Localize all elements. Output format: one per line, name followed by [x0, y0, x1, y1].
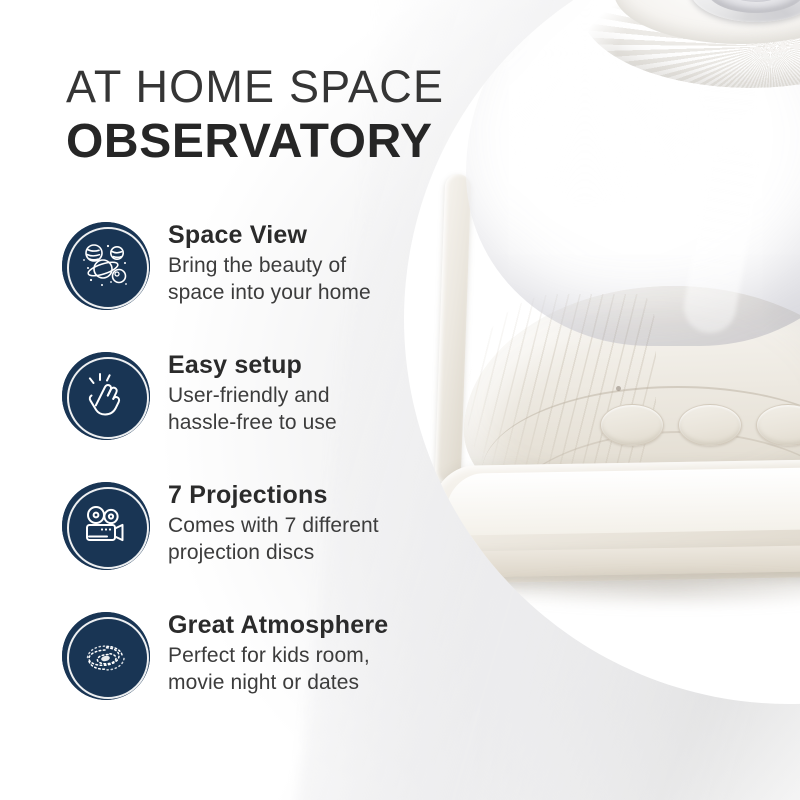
feature-desc-line: hassle-free to use	[168, 409, 337, 436]
feature-description: User-friendly and hassle-free to use	[168, 382, 337, 436]
feature-item-projections: 7 Projections Comes with 7 different pro…	[62, 478, 462, 608]
feature-text: Easy setup User-friendly and hassle-free…	[168, 348, 337, 436]
light-icon	[777, 417, 799, 433]
headline-line-1: AT HOME SPACE	[66, 62, 486, 112]
power-icon	[621, 417, 643, 433]
infographic-canvas: AT HOME SPACE OBSERVATORY	[0, 0, 800, 800]
spiral-galaxy-icon	[62, 612, 150, 700]
page-title: AT HOME SPACE OBSERVATORY	[66, 62, 486, 170]
feature-title: Easy setup	[168, 350, 337, 380]
feature-title: Great Atmosphere	[168, 610, 388, 640]
feature-text: 7 Projections Comes with 7 different pro…	[168, 478, 379, 566]
tap-hand-icon	[62, 352, 150, 440]
indicator-led	[616, 386, 621, 391]
feature-text: Great Atmosphere Perfect for kids room, …	[168, 608, 388, 696]
feature-title: Space View	[168, 220, 371, 250]
feature-desc-line: Comes with 7 different	[168, 512, 379, 539]
stand-base-top	[442, 466, 800, 536]
feature-desc-line: User-friendly and	[168, 382, 337, 409]
mode-icon	[699, 417, 721, 433]
feature-description: Bring the beauty of space into your home	[168, 252, 371, 306]
feature-description: Perfect for kids room, movie night or da…	[168, 642, 388, 696]
feature-desc-line: space into your home	[168, 279, 371, 306]
feature-desc-line: projection discs	[168, 539, 379, 566]
planets-space-icon	[62, 222, 150, 310]
feature-title: 7 Projections	[168, 480, 379, 510]
headline-line-2: OBSERVATORY	[66, 114, 486, 170]
feature-item-space-view: Space View Bring the beauty of space int…	[62, 218, 462, 348]
mode-button[interactable]	[678, 404, 742, 446]
power-button[interactable]	[600, 404, 664, 446]
light-button[interactable]	[756, 404, 800, 446]
feature-desc-line: movie night or dates	[168, 669, 388, 696]
feature-desc-line: Perfect for kids room,	[168, 642, 388, 669]
feature-desc-line: Bring the beauty of	[168, 252, 371, 279]
feature-list: Space View Bring the beauty of space int…	[62, 218, 462, 738]
feature-item-atmosphere: Great Atmosphere Perfect for kids room, …	[62, 608, 462, 738]
control-button-row	[600, 404, 800, 450]
feature-item-easy-setup: Easy setup User-friendly and hassle-free…	[62, 348, 462, 478]
stand-shadow	[464, 570, 800, 610]
movie-projector-icon	[62, 482, 150, 570]
feature-text: Space View Bring the beauty of space int…	[168, 218, 371, 306]
feature-description: Comes with 7 different projection discs	[168, 512, 379, 566]
